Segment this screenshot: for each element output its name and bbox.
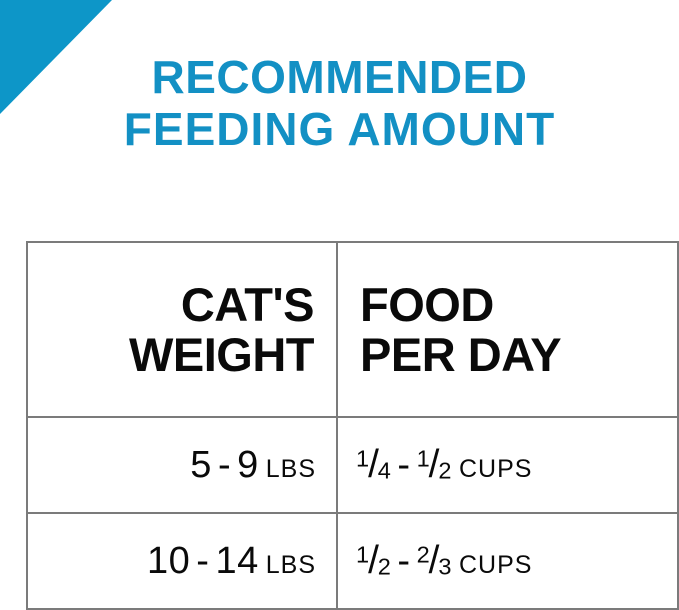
weight-high-value: 9 bbox=[237, 444, 259, 486]
food-range-dash: - bbox=[397, 540, 410, 582]
cell-food-per-day: 1/4-1/2CUPS bbox=[337, 417, 678, 513]
food-high-denominator: 2 bbox=[438, 457, 452, 483]
food-high-fraction: 1/2 bbox=[417, 443, 452, 487]
weight-unit-label: LBS bbox=[266, 551, 316, 579]
column-header-cats-weight-line-1: CAT'S bbox=[28, 280, 314, 330]
food-high-denominator: 3 bbox=[438, 553, 452, 579]
food-low-fraction: 1/2 bbox=[356, 539, 391, 583]
weight-unit-label: LBS bbox=[266, 455, 316, 483]
column-header-food-per-day-line-2: PER DAY bbox=[360, 330, 677, 380]
table-header-row: CAT'S WEIGHT FOOD PER DAY bbox=[27, 242, 678, 417]
food-high-fraction: 2/3 bbox=[417, 539, 452, 583]
column-header-cats-weight-line-2: WEIGHT bbox=[28, 330, 314, 380]
page-title-line-1: RECOMMENDED bbox=[0, 52, 679, 104]
recommended-feeding-table: CAT'S WEIGHT FOOD PER DAY 5-9LBS 1/4-1/2… bbox=[26, 241, 679, 610]
table-row: 10-14LBS 1/2-2/3CUPS bbox=[27, 513, 678, 609]
column-header-cats-weight: CAT'S WEIGHT bbox=[27, 242, 337, 417]
food-low-denominator: 4 bbox=[378, 457, 392, 483]
weight-range-dash: - bbox=[218, 444, 231, 486]
weight-low-value: 10 bbox=[147, 540, 190, 582]
weight-high-value: 14 bbox=[215, 540, 258, 582]
food-unit-label: CUPS bbox=[459, 455, 532, 483]
column-header-food-per-day: FOOD PER DAY bbox=[337, 242, 678, 417]
weight-range-dash: - bbox=[196, 540, 209, 582]
page-title-line-2: FEEDING AMOUNT bbox=[0, 104, 679, 156]
weight-low-value: 5 bbox=[190, 444, 212, 486]
table-row: 5-9LBS 1/4-1/2CUPS bbox=[27, 417, 678, 513]
food-unit-label: CUPS bbox=[459, 551, 532, 579]
food-low-denominator: 2 bbox=[378, 553, 392, 579]
cell-cats-weight: 5-9LBS bbox=[27, 417, 337, 513]
food-low-fraction: 1/4 bbox=[356, 443, 391, 487]
page-title: RECOMMENDED FEEDING AMOUNT bbox=[0, 52, 679, 155]
column-header-food-per-day-line-1: FOOD bbox=[360, 280, 677, 330]
food-range-dash: - bbox=[397, 444, 410, 486]
cell-cats-weight: 10-14LBS bbox=[27, 513, 337, 609]
cell-food-per-day: 1/2-2/3CUPS bbox=[337, 513, 678, 609]
